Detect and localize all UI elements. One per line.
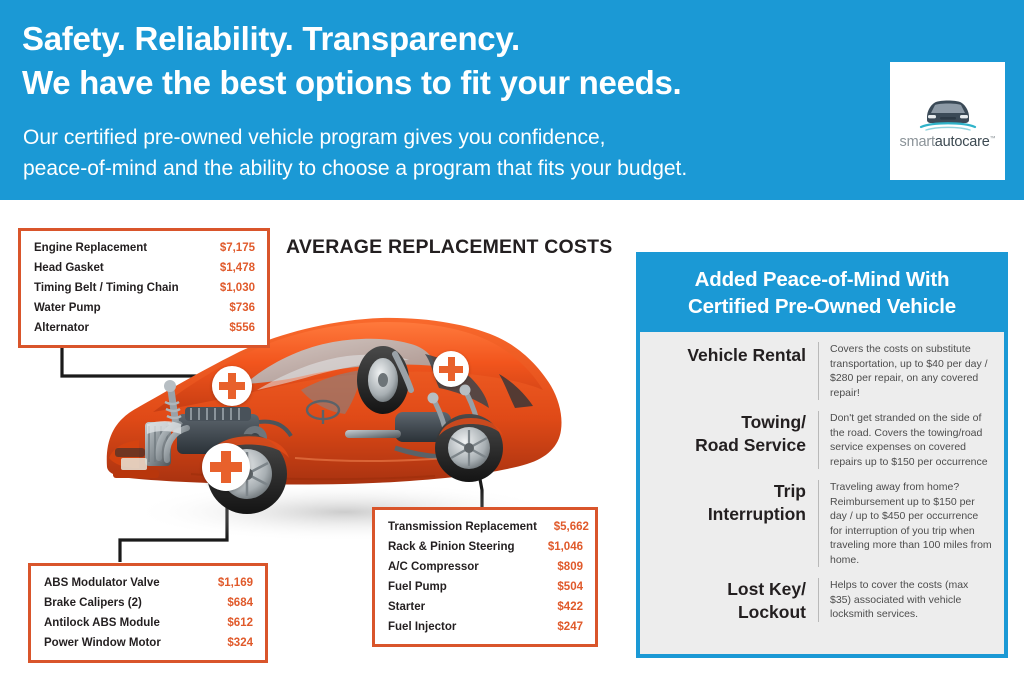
benefit-label-line: Lost Key/: [648, 578, 806, 601]
cost-item-name: Rack & Pinion Steering: [388, 537, 515, 557]
benefit-label-line: Trip: [648, 480, 806, 503]
car-front-icon: [917, 92, 979, 132]
cost-item-price: $504: [531, 577, 583, 597]
table-row: Engine Replacement $7,175: [34, 238, 255, 258]
page-title: Safety. Reliability. Transparency. We ha…: [22, 17, 882, 105]
logo-word-smart: smart: [900, 134, 935, 150]
benefit-label-line: Road Service: [648, 434, 806, 457]
benefit-label: Trip Interruption: [648, 480, 818, 526]
cost-item-name: A/C Compressor: [388, 557, 479, 577]
plus-bar-vertical: [448, 357, 455, 381]
benefit-item-lost-key-lockout: Lost Key/ Lockout Helps to cover the cos…: [648, 578, 992, 624]
table-row: Brake Calipers (2) $684: [44, 593, 253, 613]
plus-bar-vertical: [221, 451, 231, 483]
table-row: Transmission Replacement $5,662: [388, 517, 583, 537]
cost-item-price: $556: [203, 318, 255, 338]
cost-item-price: $324: [201, 633, 253, 653]
cost-item-price: $1,169: [201, 573, 253, 593]
cost-item-price: $5,662: [537, 517, 589, 537]
benefit-label-line: Vehicle Rental: [648, 344, 806, 367]
benefit-label-line: Lockout: [648, 601, 806, 624]
table-row: A/C Compressor $809: [388, 557, 583, 577]
cost-item-name: Water Pump: [34, 298, 101, 318]
table-row: Antilock ABS Module $612: [44, 613, 253, 633]
plus-marker-icon-engine-upper[interactable]: [212, 366, 252, 406]
cost-item-name: Fuel Pump: [388, 577, 447, 597]
benefit-item-trip-interruption: Trip Interruption Traveling away from ho…: [648, 480, 992, 567]
benefits-header-line-2: Certified Pre-Owned Vehicle: [646, 293, 998, 320]
benefit-description: Don't get stranded on the side of the ro…: [818, 411, 992, 469]
table-row: Rack & Pinion Steering $1,046: [388, 537, 583, 557]
cost-table-brakes: ABS Modulator Valve $1,169 Brake Caliper…: [28, 563, 268, 663]
cost-item-name: Alternator: [34, 318, 89, 338]
cost-item-name: Head Gasket: [34, 258, 104, 278]
plus-bar-vertical: [228, 373, 236, 399]
cost-item-price: $247: [531, 617, 583, 637]
benefit-description: Traveling away from home? Reimbursement …: [818, 480, 992, 567]
brand-logo: smartautocare™: [890, 62, 1005, 180]
cost-item-name: Brake Calipers (2): [44, 593, 142, 613]
cost-item-price: $612: [201, 613, 253, 633]
cost-item-price: $1,030: [203, 278, 255, 298]
cost-item-name: ABS Modulator Valve: [44, 573, 160, 593]
benefits-panel: Added Peace-of-Mind With Certified Pre-O…: [636, 252, 1008, 658]
table-row: Head Gasket $1,478: [34, 258, 255, 278]
page-subtitle-line-2: peace-of-mind and the ability to choose …: [23, 153, 873, 184]
header-banner: Safety. Reliability. Transparency. We ha…: [0, 0, 1024, 200]
cost-item-price: $7,175: [203, 238, 255, 258]
section-heading-average-replacement-costs: AVERAGE REPLACEMENT COSTS: [286, 236, 612, 259]
benefit-description: Helps to cover the costs (max $35) assoc…: [818, 578, 992, 622]
table-row: Water Pump $736: [34, 298, 255, 318]
cost-item-name: Timing Belt / Timing Chain: [34, 278, 179, 298]
cost-item-name: Antilock ABS Module: [44, 613, 160, 633]
logo-trademark: ™: [990, 136, 996, 142]
page-title-line-1: Safety. Reliability. Transparency.: [22, 17, 882, 61]
table-row: Timing Belt / Timing Chain $1,030: [34, 278, 255, 298]
logo-wordmark: smartautocare™: [900, 134, 996, 150]
plus-marker-icon-engine-lower[interactable]: [202, 443, 250, 491]
cost-item-price: $422: [531, 597, 583, 617]
benefits-panel-header: Added Peace-of-Mind With Certified Pre-O…: [640, 256, 1004, 332]
cost-item-price: $809: [531, 557, 583, 577]
cost-item-name: Power Window Motor: [44, 633, 161, 653]
benefit-label: Vehicle Rental: [648, 342, 818, 367]
table-row: ABS Modulator Valve $1,169: [44, 573, 253, 593]
table-row: Starter $422: [388, 597, 583, 617]
benefit-label-line: Interruption: [648, 503, 806, 526]
page-subtitle-line-1: Our certified pre-owned vehicle program …: [23, 122, 873, 153]
benefit-label: Towing/ Road Service: [648, 411, 818, 457]
cost-table-engine: Engine Replacement $7,175 Head Gasket $1…: [18, 228, 270, 348]
cost-table-drivetrain: Transmission Replacement $5,662 Rack & P…: [372, 507, 598, 647]
cost-item-price: $1,046: [531, 537, 583, 557]
cost-item-name: Starter: [388, 597, 425, 617]
cost-item-name: Engine Replacement: [34, 238, 147, 258]
benefit-item-towing-road-service: Towing/ Road Service Don't get stranded …: [648, 411, 992, 469]
page-subtitle: Our certified pre-owned vehicle program …: [23, 122, 873, 184]
cost-item-name: Transmission Replacement: [388, 517, 537, 537]
plus-marker-icon-drivetrain[interactable]: [433, 351, 469, 387]
logo-word-autocare: autocare: [935, 134, 990, 150]
benefit-item-vehicle-rental: Vehicle Rental Covers the costs on subst…: [648, 342, 992, 400]
benefit-description: Covers the costs on substitute transport…: [818, 342, 992, 400]
cost-item-price: $1,478: [203, 258, 255, 278]
benefits-list: Vehicle Rental Covers the costs on subst…: [640, 332, 1004, 643]
benefit-label: Lost Key/ Lockout: [648, 578, 818, 624]
table-row: Power Window Motor $324: [44, 633, 253, 653]
table-row: Fuel Injector $247: [388, 617, 583, 637]
benefit-label-line: Towing/: [648, 411, 806, 434]
table-row: Alternator $556: [34, 318, 255, 338]
benefits-header-line-1: Added Peace-of-Mind With: [646, 266, 998, 293]
table-row: Fuel Pump $504: [388, 577, 583, 597]
cost-item-price: $736: [203, 298, 255, 318]
cost-item-price: $684: [201, 593, 253, 613]
cost-item-name: Fuel Injector: [388, 617, 456, 637]
page-title-line-2: We have the best options to fit your nee…: [22, 61, 882, 105]
